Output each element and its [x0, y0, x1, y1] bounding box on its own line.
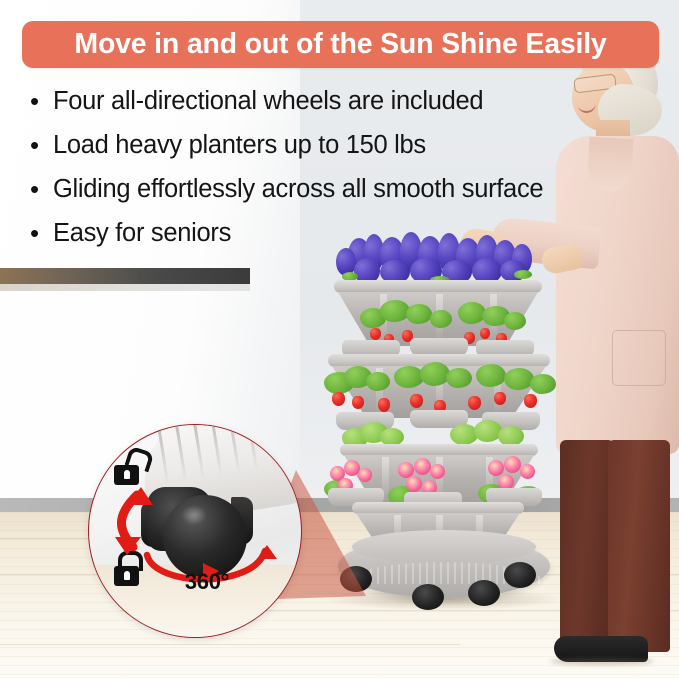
cardigan-pocket	[612, 330, 666, 386]
caster-wheel	[340, 566, 372, 592]
list-item-label: Load heavy planters up to 150 lbs	[53, 130, 426, 161]
list-item-label: Four all-directional wheels are included	[53, 86, 483, 117]
caster-wheel-highlight	[181, 505, 207, 525]
title-banner: Move in and out of the Sun Shine Easily	[22, 21, 659, 68]
caster-wheel	[504, 562, 536, 588]
bullet-icon: •	[30, 130, 53, 160]
pot-rim-4	[352, 502, 524, 514]
list-item-label: Gliding effortlessly across all smooth s…	[53, 174, 543, 205]
right-leg	[608, 440, 670, 652]
infographic-canvas: 360° Move in and out of the Sun Shine Ea…	[0, 0, 679, 679]
rotation-label: 360°	[167, 569, 247, 595]
stackable-planter-tower	[318, 236, 570, 611]
list-item: • Four all-directional wheels are includ…	[30, 86, 675, 117]
wheel-detail-callout: 360°	[88, 424, 302, 638]
caster-base-top	[352, 530, 536, 564]
bullet-icon: •	[30, 174, 53, 204]
list-item-label: Easy for seniors	[53, 218, 231, 249]
unlock-icon	[113, 449, 153, 489]
floor-seam	[0, 644, 460, 645]
counter-shadow	[0, 284, 250, 291]
pot-rim-3	[340, 444, 538, 456]
caster-wheel	[468, 580, 500, 606]
counter-edge	[0, 268, 250, 284]
list-item: • Load heavy planters up to 150 lbs	[30, 130, 675, 161]
list-item: • Easy for seniors	[30, 218, 675, 249]
pot-rim-1	[334, 280, 542, 293]
bullet-icon: •	[30, 86, 53, 116]
bullet-icon: •	[30, 218, 53, 248]
page-title: Move in and out of the Sun Shine Easily	[74, 30, 606, 59]
shoe-shadow	[550, 658, 654, 665]
feature-list: • Four all-directional wheels are includ…	[30, 86, 675, 262]
caster-wheel	[412, 584, 444, 610]
list-item: • Gliding effortlessly across all smooth…	[30, 174, 675, 205]
